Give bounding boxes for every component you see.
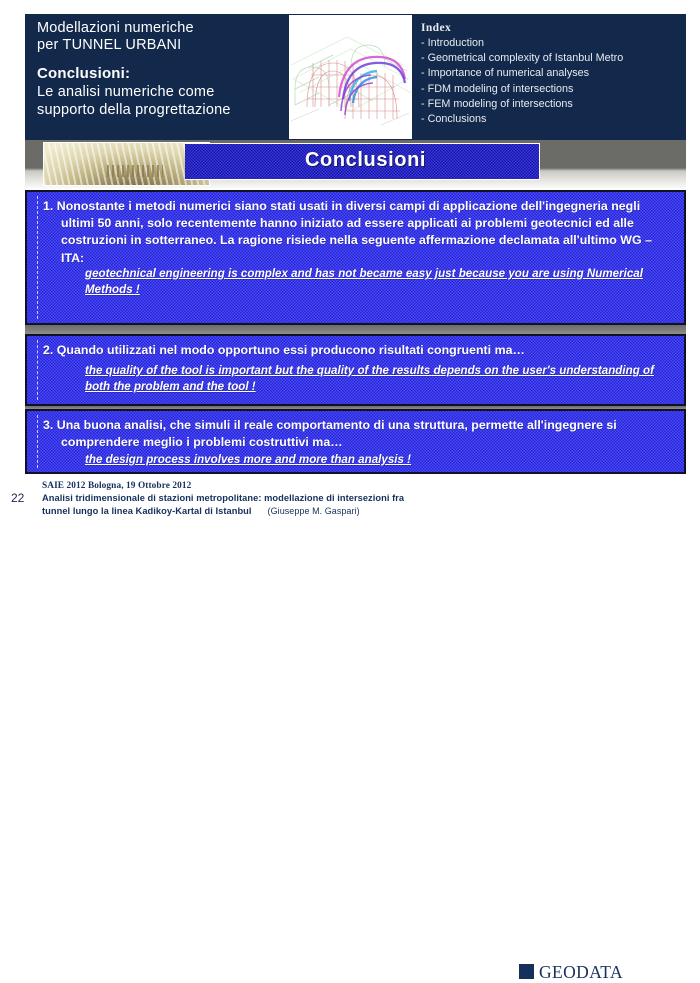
header-subtitle: Conclusioni: <box>37 64 292 83</box>
header-sub-line2: supporto della progrettazione <box>37 101 292 119</box>
header-title-line2: per TUNNEL URBANI <box>37 37 292 54</box>
footer-paper-title-line1: Analisi tridimensionale di stazioni metr… <box>42 492 492 505</box>
conclusion-2-text: 2. Quando utilizzati nel modo opportuno … <box>43 342 676 359</box>
index-title: Index <box>421 22 679 34</box>
index-item-fdm-modeling[interactable]: - FDM modeling of intersections <box>421 82 679 97</box>
index-item-conclusions[interactable]: - Conclusions <box>421 112 679 127</box>
conclusion-1-text: 1. Nonostante i metodi numerici siano st… <box>43 198 676 267</box>
conclusion-2-quote: the quality of the tool is important but… <box>85 363 662 395</box>
header-title-block: Modellazioni numeriche per TUNNEL URBANI… <box>37 20 292 119</box>
geodata-logo-mark-icon <box>519 964 534 979</box>
footer-paper-title-line2-value: tunnel lungo la linea Kadikoy-Kartal di … <box>42 506 252 516</box>
conclusion-3-quote: the design process involves more and mor… <box>85 452 662 468</box>
section-title-banner: Conclusioni <box>185 143 540 180</box>
footer-author: (Giuseppe M. Gaspari) <box>252 506 360 516</box>
separator-1 <box>25 325 686 334</box>
header-sub-line1: Le analisi numeriche come <box>37 83 292 101</box>
slide-header: Modellazioni numeriche per TUNNEL URBANI… <box>25 14 686 140</box>
conclusion-item-1: 1. Nonostante i metodi numerici siano st… <box>25 190 686 325</box>
geodata-logo-text: GEODATA <box>539 962 623 983</box>
conclusion-1-quote: geotechnical engineering is complex and … <box>85 266 662 298</box>
footer-paper-title-line2: tunnel lungo la linea Kadikoy-Kartal di … <box>42 505 492 518</box>
index-item-fem-modeling[interactable]: - FEM modeling of intersections <box>421 97 679 112</box>
conclusion-item-3: 3. Una buona analisi, che simuli il real… <box>25 409 686 474</box>
section-title: Conclusioni <box>305 149 426 172</box>
index-item-introduction[interactable]: - Introduction <box>421 36 679 51</box>
index-item-importance-numerical-analyses[interactable]: - Importance of numerical analyses <box>421 66 679 81</box>
conclusion-item-2: 2. Quando utilizzati nel modo opportuno … <box>25 334 686 406</box>
title-strip: Conclusioni <box>25 140 686 190</box>
conclusion-2-text-value: 2. Quando utilizzati nel modo opportuno … <box>43 342 676 359</box>
geodata-logo: GEODATA <box>519 962 641 982</box>
conclusion-3-text-value: 3. Una buona analisi, che simuli il real… <box>43 417 676 451</box>
conclusion-3-text: 3. Una buona analisi, che simuli il real… <box>43 417 676 451</box>
index-item-geometrical-complexity[interactable]: - Geometrical complexity of Istanbul Met… <box>421 51 679 66</box>
index-block: Index - Introduction - Geometrical compl… <box>421 22 679 127</box>
conclusion-1-text-value: 1. Nonostante i metodi numerici siano st… <box>43 198 676 267</box>
slide-number: 22 <box>11 491 24 505</box>
header-title-line1: Modellazioni numeriche <box>37 20 292 37</box>
footer-text-block: SAIE 2012 Bologna, 19 Ottobre 2012 Anali… <box>42 480 492 517</box>
footer-event-line: SAIE 2012 Bologna, 19 Ottobre 2012 <box>42 480 492 492</box>
tunnel-mesh-image <box>289 15 412 139</box>
slide-footer: 22 SAIE 2012 Bologna, 19 Ottobre 2012 An… <box>0 476 700 525</box>
